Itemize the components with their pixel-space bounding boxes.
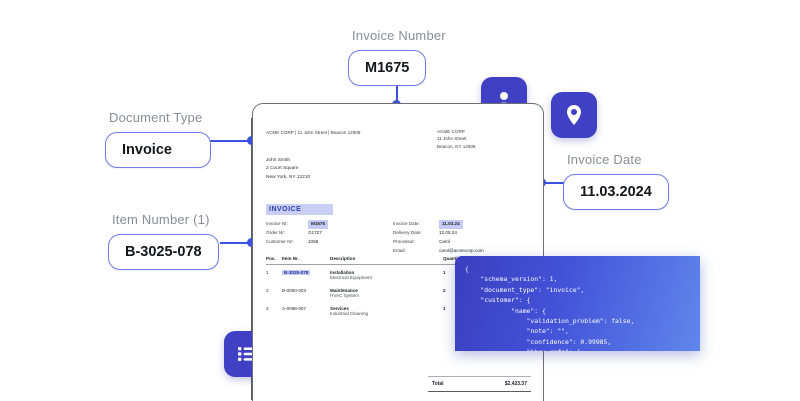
callout-value-invoice-number[interactable]: M1675	[348, 50, 426, 86]
meta-row: Delivery Date: 12.05.24	[393, 229, 484, 238]
cell-description-sub: HVAC System	[330, 293, 443, 298]
total-divider-top	[428, 376, 531, 377]
canvas: Invoice Number M1675 Document Type Invoi…	[0, 0, 800, 400]
recipient-line: New York, NY 12210	[266, 174, 310, 182]
cell-description: Services Industrial Cleaning	[330, 306, 443, 316]
meta-value-delivery-date: 12.05.24	[439, 229, 457, 238]
document-meta-right: Invoice Date: 11.03.24 Delivery Date: 12…	[393, 220, 484, 256]
json-output-panel[interactable]: { "schema_version": 1, "document_type": …	[455, 256, 700, 351]
document-meta-left: Invoice Nr: M1675 Order Nr: O1727 Custom…	[266, 220, 328, 247]
document-recipient-address: John Smith 2 Court Square New York, NY 1…	[266, 157, 310, 182]
meta-key: Invoice Date:	[393, 220, 439, 229]
invoice-document-card[interactable]: ACME CORP | 11 John Street | Beacon 1250…	[252, 103, 544, 401]
cell-pos: 3	[266, 306, 282, 316]
document-section-title: INVOICE	[266, 204, 333, 215]
company-line: 11 John Street	[437, 135, 527, 142]
total-divider-bottom	[428, 391, 531, 392]
callout-caption: Invoice Date	[563, 152, 669, 167]
callout-document-type: Document Type Invoice	[105, 110, 211, 168]
total-value: $2,423.37	[505, 381, 527, 387]
meta-key: Invoice Nr:	[266, 220, 308, 229]
cell-item: B-3025-078	[282, 270, 330, 280]
callout-value-item-number[interactable]: B-3025-078	[108, 234, 219, 270]
column-header-description: Description	[330, 256, 443, 261]
document-header-line: ACME CORP | 11 John Street | Beacon 1250…	[266, 130, 360, 135]
meta-row: Order Nr: O1727	[266, 229, 328, 238]
cell-item: B-0050-003	[282, 288, 330, 298]
cell-description-sub: Industrial Cleaning	[330, 311, 443, 316]
meta-key: Delivery Date:	[393, 229, 439, 238]
column-header-item: Item Nr.	[282, 256, 330, 261]
document-company-address: ACME CORP 11 John Street Beacon, NY 1250…	[437, 128, 527, 150]
cell-description: Maintenance HVAC System	[330, 288, 443, 298]
column-header-pos: Pos.	[266, 256, 282, 261]
cell-description-sub: Electrical Equipment	[330, 275, 443, 280]
recipient-line: John Smith	[266, 157, 310, 165]
meta-key: Order Nr:	[266, 229, 308, 238]
total-row: Total $2,423.37	[428, 381, 531, 387]
meta-value-invoice-date: 11.03.24	[439, 220, 463, 229]
meta-key: Processor:	[393, 238, 439, 247]
cell-item: A-0088-007	[282, 306, 330, 316]
meta-value-customer-nr: 1068	[308, 238, 318, 247]
meta-key: Customer Nr:	[266, 238, 308, 247]
meta-value-processor: Carol	[439, 238, 450, 247]
recipient-line: 2 Court Square	[266, 165, 310, 173]
callout-invoice-number: Invoice Number M1675	[348, 28, 446, 86]
callout-caption: Document Type	[105, 110, 211, 125]
callout-caption: Invoice Number	[348, 28, 446, 43]
company-line: Beacon, NY 12508	[437, 143, 527, 150]
callout-value-invoice-date[interactable]: 11.03.2024	[563, 174, 669, 210]
cell-item-value: B-3025-078	[282, 270, 310, 275]
company-line: ACME CORP	[437, 128, 527, 135]
meta-value-invoice-nr: M1675	[308, 220, 328, 229]
meta-row: Invoice Date: 11.03.24	[393, 220, 484, 229]
meta-row: Customer Nr: 1068	[266, 238, 328, 247]
callout-item-number: Item Number (1) B-3025-078	[108, 212, 219, 270]
cell-description: Installation Electrical Equipment	[330, 270, 443, 280]
meta-value-email: carol@acmecorp.com	[439, 247, 484, 256]
meta-key: Email:	[393, 247, 439, 256]
callout-invoice-date: Invoice Date 11.03.2024	[563, 152, 669, 210]
meta-row: Email: carol@acmecorp.com	[393, 247, 484, 256]
total-section: Total $2,423.37	[428, 376, 531, 392]
meta-row: Processor: Carol	[393, 238, 484, 247]
callout-value-document-type[interactable]: Invoice	[105, 132, 211, 168]
cell-pos: 1	[266, 270, 282, 280]
location-pin-icon-button[interactable]	[551, 92, 597, 138]
meta-value-order-nr: O1727	[308, 229, 322, 238]
meta-row: Invoice Nr: M1675	[266, 220, 328, 229]
cell-pos: 2	[266, 288, 282, 298]
location-pin-icon	[562, 103, 586, 127]
callout-caption: Item Number (1)	[108, 212, 219, 227]
total-label: Total	[432, 381, 444, 387]
